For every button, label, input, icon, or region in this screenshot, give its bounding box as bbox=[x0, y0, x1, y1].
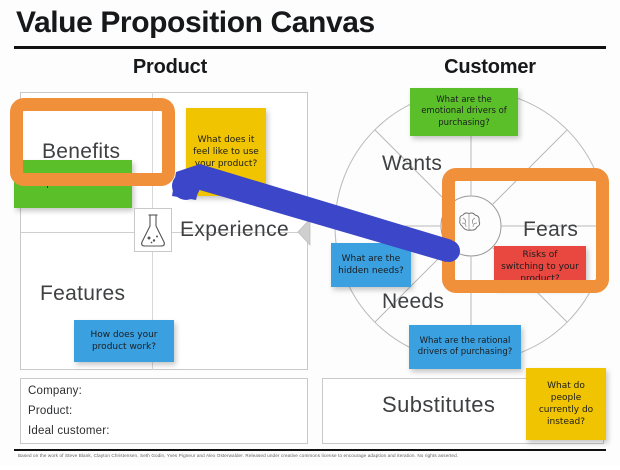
flask-icon bbox=[134, 208, 172, 252]
ideal-customer-field-label[interactable]: Ideal customer: bbox=[28, 425, 110, 437]
column-heading-product: Product bbox=[80, 56, 260, 79]
substitutes-label: Substitutes bbox=[382, 392, 495, 418]
wants-label: Wants bbox=[382, 152, 442, 176]
sticky-note-blue-hidden-needs[interactable]: What are the hidden needs? bbox=[331, 243, 411, 287]
features-label: Features bbox=[40, 282, 125, 306]
footer-divider-rule bbox=[14, 449, 606, 451]
sticky-note-green-emotional-drivers[interactable]: What are the emotional drivers of purcha… bbox=[410, 88, 518, 136]
company-field-label[interactable]: Company: bbox=[28, 385, 82, 397]
product-field-label[interactable]: Product: bbox=[28, 405, 72, 417]
sticky-note-blue-features[interactable]: How does your product work? bbox=[74, 320, 174, 362]
orange-highlight-benefits bbox=[10, 98, 175, 186]
column-heading-customer: Customer bbox=[400, 56, 580, 79]
footer-attribution: Based on the work of Steve Blank, Clayto… bbox=[18, 453, 602, 458]
value-proposition-canvas: Value Proposition Canvas Product Custome… bbox=[0, 0, 620, 465]
orange-highlight-fears bbox=[442, 168, 609, 293]
experience-label: Experience bbox=[180, 218, 289, 242]
left-arrow-icon bbox=[296, 218, 312, 246]
needs-label: Needs bbox=[382, 290, 444, 314]
sticky-note-yellow-experience[interactable]: What does it feel like to use your produ… bbox=[186, 108, 266, 196]
title-divider-rule bbox=[14, 46, 606, 49]
sticky-note-yellow-substitutes[interactable]: What do people currently do instead? bbox=[526, 368, 606, 440]
page-title: Value Proposition Canvas bbox=[16, 6, 604, 40]
sticky-note-blue-rational-drivers[interactable]: What are the rational drivers of purchas… bbox=[409, 325, 521, 369]
